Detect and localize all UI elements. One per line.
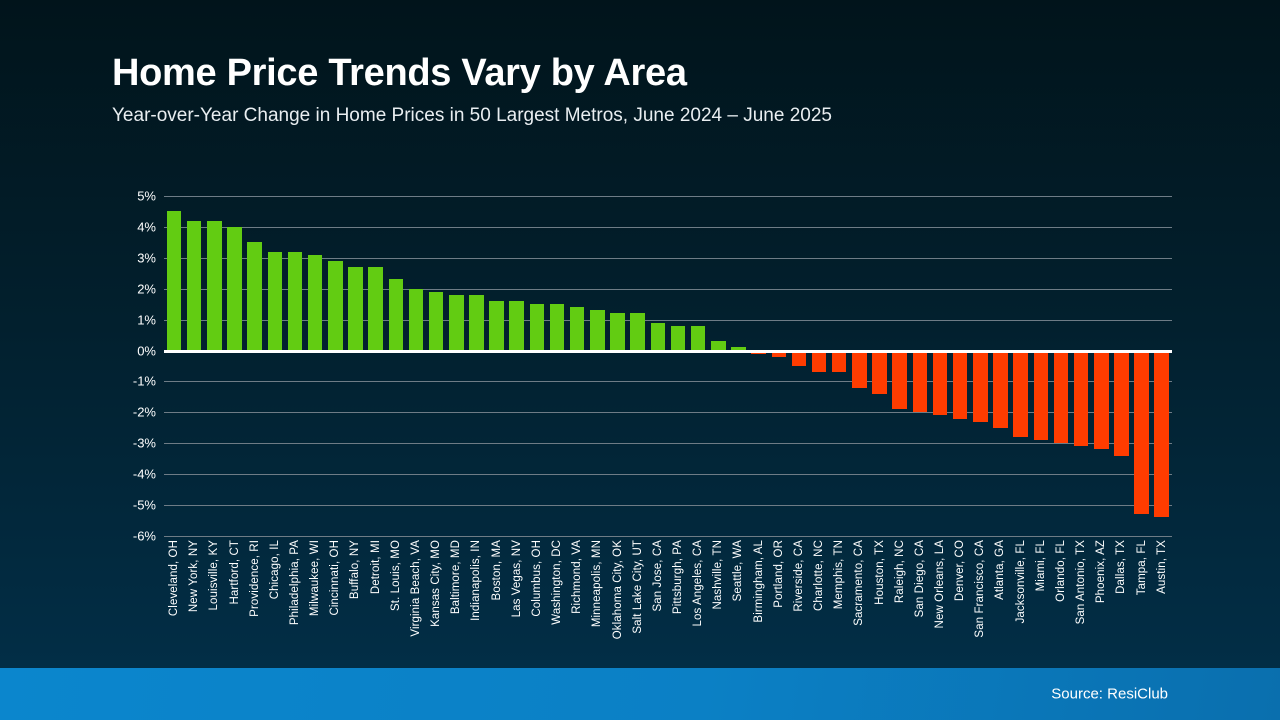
x-axis-tick-label: Minneapolis, MN — [591, 540, 603, 627]
bar-slot — [184, 196, 204, 536]
chart-bar[interactable] — [1094, 351, 1109, 450]
bar-slot — [466, 196, 486, 536]
chart-bar[interactable] — [973, 351, 988, 422]
x-axis-tick-label: Salt Lake City, UT — [632, 540, 644, 634]
x-axis-label-slot: Houston, TX — [869, 540, 889, 660]
bar-slot — [527, 196, 547, 536]
x-axis-tick-label: Seattle, WA — [732, 540, 744, 601]
bar-series — [164, 196, 1172, 536]
x-axis-label-slot: Raleigh, NC — [890, 540, 910, 660]
bar-slot — [305, 196, 325, 536]
bar-slot — [386, 196, 406, 536]
chart-subtitle: Year-over-Year Change in Home Prices in … — [112, 105, 1212, 127]
chart-bar[interactable] — [247, 242, 262, 350]
bar-slot — [930, 196, 950, 536]
x-axis-label-slot: Orlando, FL — [1051, 540, 1071, 660]
bar-slot — [204, 196, 224, 536]
x-axis-label-slot: Washington, DC — [547, 540, 567, 660]
chart-bar[interactable] — [469, 295, 484, 351]
x-axis-label-slot: Buffalo, NY — [345, 540, 365, 660]
bar-slot — [487, 196, 507, 536]
chart-bar[interactable] — [227, 227, 242, 351]
x-axis-tick-label: Milwaukee, WI — [309, 540, 321, 616]
x-axis-tick-label: San Antonio, TX — [1075, 540, 1087, 624]
x-axis-tick-label: Los Angeles, CA — [692, 540, 704, 627]
bar-slot — [849, 196, 869, 536]
x-axis-label-slot: Riverside, CA — [789, 540, 809, 660]
chart-bar[interactable] — [1134, 351, 1149, 515]
x-axis-tick-label: Jacksonville, FL — [1015, 540, 1027, 623]
chart-bar[interactable] — [933, 351, 948, 416]
bar-slot — [426, 196, 446, 536]
x-axis-label-slot: Columbus, OH — [527, 540, 547, 660]
x-axis-label-slot: Portland, OR — [769, 540, 789, 660]
x-axis-labels: Cleveland, OHNew York, NYLouisville, KYH… — [164, 540, 1172, 660]
bar-slot — [769, 196, 789, 536]
x-axis-tick-label: Indianapolis, IN — [470, 540, 482, 621]
x-axis-label-slot: Cleveland, OH — [164, 540, 184, 660]
x-axis-tick-label: New York, NY — [188, 540, 200, 612]
source-attribution: Source: ResiClub — [1051, 686, 1168, 703]
bar-slot — [668, 196, 688, 536]
x-axis-tick-label: Las Vegas, NV — [511, 540, 523, 617]
y-axis-tick-label: 2% — [137, 281, 156, 296]
chart-bar[interactable] — [429, 292, 444, 351]
bar-slot — [224, 196, 244, 536]
chart-bar[interactable] — [288, 252, 303, 351]
bar-slot — [607, 196, 627, 536]
slide-canvas: Home Price Trends Vary by Area Year-over… — [0, 0, 1280, 720]
chart-bar[interactable] — [953, 351, 968, 419]
chart-bar[interactable] — [1054, 351, 1069, 444]
x-axis-label-slot: San Diego, CA — [910, 540, 930, 660]
x-axis-label-slot: Louisville, KY — [204, 540, 224, 660]
x-axis-label-slot: Hartford, CT — [224, 540, 244, 660]
x-axis-tick-label: Detroit, MI — [370, 540, 382, 594]
x-axis-tick-label: Sacramento, CA — [853, 540, 865, 626]
chart-bar[interactable] — [167, 211, 182, 350]
x-axis-label-slot: New Orleans, LA — [930, 540, 950, 660]
footer-band: Source: ResiClub — [0, 668, 1280, 720]
chart-bar[interactable] — [812, 351, 827, 373]
x-axis-label-slot: Dallas, TX — [1111, 540, 1131, 660]
bar-slot — [809, 196, 829, 536]
chart-bar[interactable] — [872, 351, 887, 394]
chart-bar[interactable] — [389, 279, 404, 350]
chart-bar[interactable] — [509, 301, 524, 350]
bar-slot — [587, 196, 607, 536]
x-axis-tick-label: Miami, FL — [1035, 540, 1047, 591]
bar-slot — [567, 196, 587, 536]
bar-slot — [789, 196, 809, 536]
chart-bar[interactable] — [913, 351, 928, 413]
x-axis-tick-label: Baltimore, MD — [450, 540, 462, 614]
chart-bar[interactable] — [1114, 351, 1129, 456]
x-axis-label-slot: Los Angeles, CA — [688, 540, 708, 660]
bar-slot — [749, 196, 769, 536]
chart-bar[interactable] — [550, 304, 565, 350]
x-axis-tick-label: San Jose, CA — [652, 540, 664, 612]
x-axis-tick-label: Birmingham, AL — [753, 540, 765, 623]
y-axis-tick-label: 4% — [137, 219, 156, 234]
chart-bar[interactable] — [832, 351, 847, 373]
chart-bar[interactable] — [691, 326, 706, 351]
x-axis-tick-label: Memphis, TN — [833, 540, 845, 609]
chart-bar[interactable] — [993, 351, 1008, 428]
bar-slot — [890, 196, 910, 536]
chart-bar[interactable] — [651, 323, 666, 351]
x-axis-label-slot: Austin, TX — [1152, 540, 1172, 660]
x-axis-tick-label: Providence, RI — [249, 540, 261, 617]
bar-slot — [648, 196, 668, 536]
bar-slot — [1091, 196, 1111, 536]
y-axis-tick-label: 3% — [137, 250, 156, 265]
chart-bar[interactable] — [1034, 351, 1049, 441]
x-axis-tick-label: Cincinnati, OH — [329, 540, 341, 616]
y-axis-tick-label: 0% — [137, 343, 156, 358]
x-axis-tick-label: Philadelphia, PA — [289, 540, 301, 625]
x-axis-label-slot: Seattle, WA — [728, 540, 748, 660]
x-axis-label-slot: Richmond, VA — [567, 540, 587, 660]
bar-slot — [507, 196, 527, 536]
x-axis-tick-label: Virginia Beach, VA — [410, 540, 422, 637]
x-axis-label-slot: San Antonio, TX — [1071, 540, 1091, 660]
x-axis-tick-label: Portland, OR — [773, 540, 785, 608]
gridline — [164, 536, 1172, 537]
bar-slot — [1031, 196, 1051, 536]
x-axis-tick-label: Kansas City, MO — [430, 540, 442, 627]
x-axis-label-slot: Baltimore, MD — [446, 540, 466, 660]
bar-slot — [245, 196, 265, 536]
chart-bar[interactable] — [449, 295, 464, 351]
x-axis-label-slot: Milwaukee, WI — [305, 540, 325, 660]
x-axis-tick-label: Columbus, OH — [531, 540, 543, 617]
y-axis: 5%4%3%2%1%0%-1%-2%-3%-4%-5%-6% — [112, 196, 156, 536]
bar-slot — [1071, 196, 1091, 536]
x-axis-label-slot: Detroit, MI — [366, 540, 386, 660]
bar-slot — [990, 196, 1010, 536]
x-axis-label-slot: Pittsburgh, PA — [668, 540, 688, 660]
x-axis-tick-label: San Francisco, CA — [974, 540, 986, 638]
bar-slot — [446, 196, 466, 536]
bar-slot — [366, 196, 386, 536]
x-axis-label-slot: Boston, MA — [487, 540, 507, 660]
x-axis-label-slot: Indianapolis, IN — [466, 540, 486, 660]
x-axis-tick-label: Atlanta, GA — [994, 540, 1006, 600]
x-axis-tick-label: Raleigh, NC — [894, 540, 906, 603]
y-axis-tick-label: -3% — [133, 436, 156, 451]
x-axis-tick-label: Charlotte, NC — [813, 540, 825, 611]
header: Home Price Trends Vary by Area Year-over… — [112, 52, 1212, 127]
bar-slot — [285, 196, 305, 536]
chart-bar[interactable] — [489, 301, 504, 350]
x-axis-label-slot: Oklahoma City, OK — [607, 540, 627, 660]
bar-slot — [1152, 196, 1172, 536]
x-axis-label-slot: San Jose, CA — [648, 540, 668, 660]
x-axis-label-slot: Phoenix, AZ — [1091, 540, 1111, 660]
chart-bar[interactable] — [409, 289, 424, 351]
y-axis-tick-label: 1% — [137, 312, 156, 327]
chart-bar[interactable] — [852, 351, 867, 388]
x-axis-label-slot: Charlotte, NC — [809, 540, 829, 660]
x-axis-label-slot: Miami, FL — [1031, 540, 1051, 660]
zero-baseline — [164, 350, 1172, 353]
y-axis-tick-label: -4% — [133, 467, 156, 482]
y-axis-tick-label: -1% — [133, 374, 156, 389]
chart-bar[interactable] — [671, 326, 686, 351]
bar-slot — [547, 196, 567, 536]
bar-slot — [325, 196, 345, 536]
x-axis-label-slot: St. Louis, MO — [386, 540, 406, 660]
chart-bar[interactable] — [207, 221, 222, 351]
x-axis-tick-label: Dallas, TX — [1115, 540, 1127, 594]
bar-slot — [708, 196, 728, 536]
x-axis-tick-label: Hartford, CT — [229, 540, 241, 604]
chart-bar[interactable] — [892, 351, 907, 410]
chart-bar[interactable] — [792, 351, 807, 366]
chart-bar[interactable] — [630, 313, 645, 350]
chart-bar[interactable] — [1013, 351, 1028, 438]
x-axis-label-slot: Tampa, FL — [1132, 540, 1152, 660]
x-axis-label-slot: Las Vegas, NV — [507, 540, 527, 660]
x-axis-label-slot: Chicago, IL — [265, 540, 285, 660]
bar-slot — [1051, 196, 1071, 536]
x-axis-label-slot: Sacramento, CA — [849, 540, 869, 660]
bar-slot — [950, 196, 970, 536]
x-axis-label-slot: Birmingham, AL — [749, 540, 769, 660]
x-axis-tick-label: Tampa, FL — [1136, 540, 1148, 595]
bar-slot — [1011, 196, 1031, 536]
chart-bar[interactable] — [530, 304, 545, 350]
x-axis-tick-label: Phoenix, AZ — [1095, 540, 1107, 603]
x-axis-tick-label: Austin, TX — [1156, 540, 1168, 594]
bar-slot — [265, 196, 285, 536]
bar-slot — [829, 196, 849, 536]
x-axis-label-slot: Virginia Beach, VA — [406, 540, 426, 660]
x-axis-tick-label: Cleveland, OH — [168, 540, 180, 616]
x-axis-tick-label: Washington, DC — [551, 540, 563, 625]
y-axis-tick-label: -2% — [133, 405, 156, 420]
chart-bar[interactable] — [610, 313, 625, 350]
chart-grid-region — [164, 196, 1172, 536]
bar-slot — [728, 196, 748, 536]
x-axis-tick-label: St. Louis, MO — [390, 540, 402, 611]
chart-bar[interactable] — [368, 267, 383, 350]
x-axis-label-slot: Philadelphia, PA — [285, 540, 305, 660]
x-axis-tick-label: San Diego, CA — [914, 540, 926, 617]
chart-plot-area: 5%4%3%2%1%0%-1%-2%-3%-4%-5%-6% — [112, 196, 1172, 536]
bar-slot — [688, 196, 708, 536]
bar-slot — [345, 196, 365, 536]
x-axis-tick-label: Denver, CO — [954, 540, 966, 601]
x-axis-tick-label: Nashville, TN — [712, 540, 724, 609]
bar-slot — [1132, 196, 1152, 536]
x-axis-label-slot: Kansas City, MO — [426, 540, 446, 660]
y-axis-tick-label: -5% — [133, 498, 156, 513]
chart-bar[interactable] — [570, 307, 585, 350]
x-axis-label-slot: Atlanta, GA — [990, 540, 1010, 660]
x-axis-label-slot: Jacksonville, FL — [1011, 540, 1031, 660]
x-axis-label-slot: Cincinnati, OH — [325, 540, 345, 660]
bar-slot — [628, 196, 648, 536]
x-axis-tick-label: Riverside, CA — [793, 540, 805, 612]
x-axis-tick-label: Pittsburgh, PA — [672, 540, 684, 614]
x-axis-tick-label: Boston, MA — [491, 540, 503, 600]
x-axis-label-slot: New York, NY — [184, 540, 204, 660]
x-axis-tick-label: Chicago, IL — [269, 540, 281, 599]
x-axis-tick-label: Houston, TX — [874, 540, 886, 605]
bar-slot — [910, 196, 930, 536]
chart-bar[interactable] — [328, 261, 343, 351]
bar-slot — [1111, 196, 1131, 536]
x-axis-tick-label: New Orleans, LA — [934, 540, 946, 628]
x-axis-tick-label: Orlando, FL — [1055, 540, 1067, 602]
x-axis-label-slot: Denver, CO — [950, 540, 970, 660]
chart-bar[interactable] — [308, 255, 323, 351]
x-axis-tick-label: Oklahoma City, OK — [612, 540, 624, 639]
x-axis-label-slot: San Francisco, CA — [970, 540, 990, 660]
x-axis-tick-label: Buffalo, NY — [349, 540, 361, 599]
x-axis-label-slot: Minneapolis, MN — [587, 540, 607, 660]
x-axis-label-slot: Memphis, TN — [829, 540, 849, 660]
x-axis-label-slot: Salt Lake City, UT — [628, 540, 648, 660]
chart-bar[interactable] — [1074, 351, 1089, 447]
x-axis-label-slot: Providence, RI — [245, 540, 265, 660]
bar-slot — [869, 196, 889, 536]
x-axis-label-slot: Nashville, TN — [708, 540, 728, 660]
chart-bar[interactable] — [268, 252, 283, 351]
y-axis-tick-label: -6% — [133, 529, 156, 544]
x-axis-tick-label: Louisville, KY — [208, 540, 220, 610]
bar-slot — [164, 196, 184, 536]
page-title: Home Price Trends Vary by Area — [112, 52, 1212, 95]
chart-bar[interactable] — [590, 310, 605, 350]
chart-bar[interactable] — [187, 221, 202, 351]
bar-slot — [970, 196, 990, 536]
chart-bar[interactable] — [1154, 351, 1169, 518]
y-axis-tick-label: 5% — [137, 189, 156, 204]
bar-slot — [406, 196, 426, 536]
chart-bar[interactable] — [348, 267, 363, 350]
x-axis-tick-label: Richmond, VA — [571, 540, 583, 614]
